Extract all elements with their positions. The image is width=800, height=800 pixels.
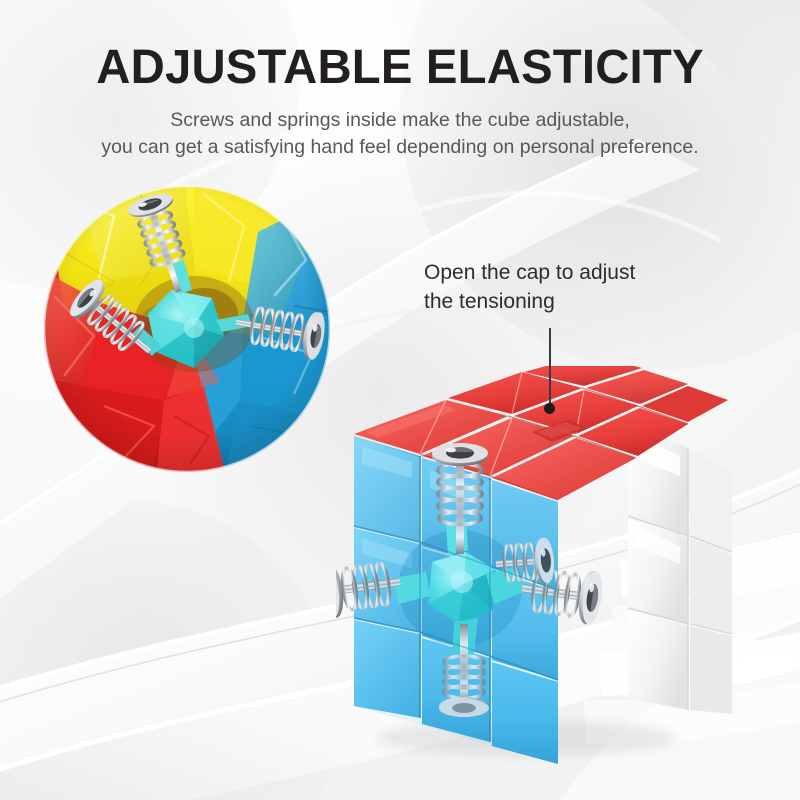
cube-right-face [628, 424, 732, 714]
callout-leader-line [549, 328, 551, 406]
subtitle-line-2: you can get a satisfying hand feel depen… [0, 134, 800, 161]
inset-content [44, 186, 330, 472]
callout-text: Open the cap to adjust the tensioning [424, 258, 724, 316]
callout-pointer-dot [544, 403, 555, 414]
page-subtitle: Screws and springs inside make the cube … [0, 107, 800, 161]
page-title: ADJUSTABLE ELASTICITY [6, 42, 794, 94]
callout-line-1: Open the cap to adjust [424, 258, 724, 287]
subtitle-line-1: Screws and springs inside make the cube … [0, 107, 800, 134]
product-feature-banner: ADJUSTABLE ELASTICITY Screws and springs… [0, 0, 800, 800]
cube-core-closeup-circle [44, 186, 330, 472]
rubiks-cube-cutaway [336, 366, 736, 766]
callout-line-2: the tensioning [424, 287, 724, 316]
